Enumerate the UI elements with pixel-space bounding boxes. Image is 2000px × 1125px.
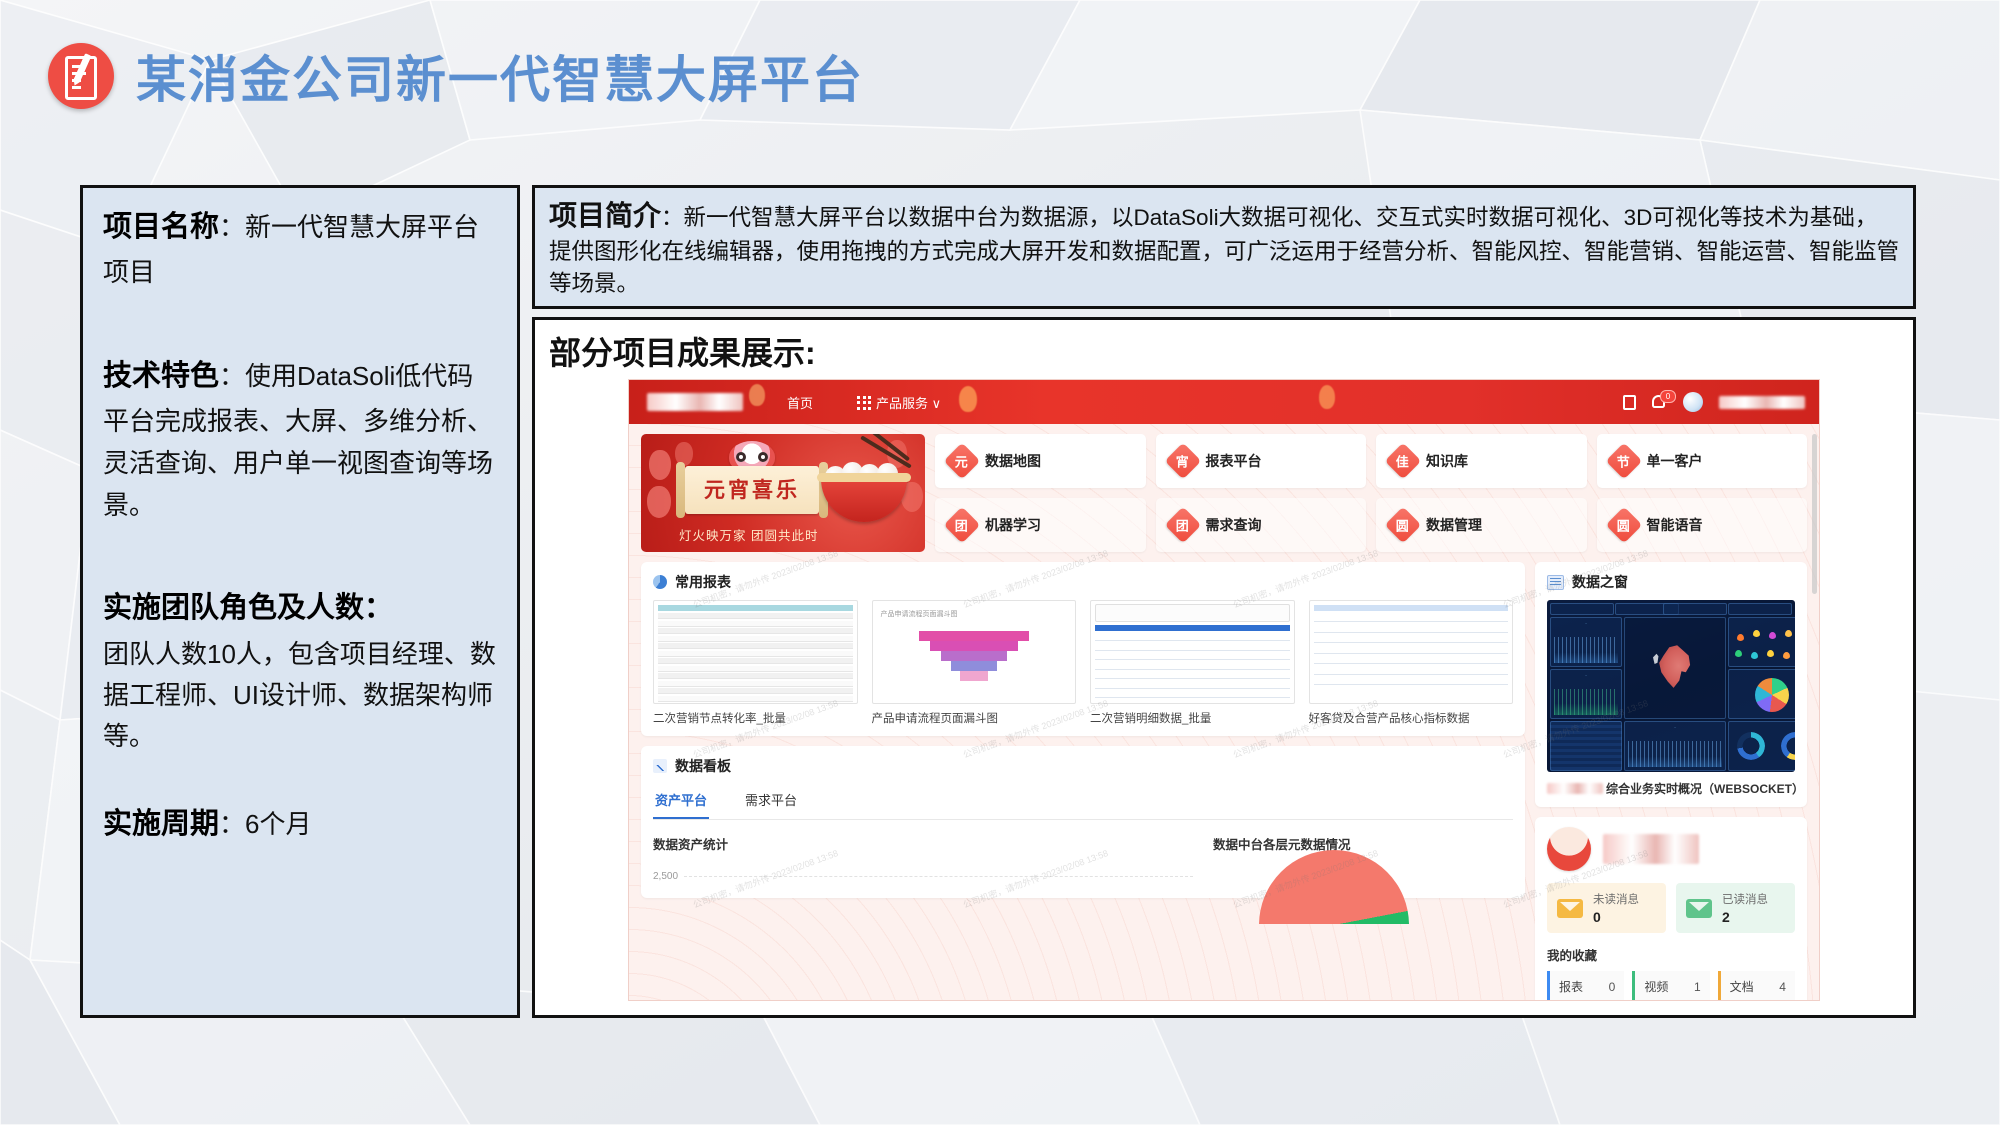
data-window-preview[interactable]: - - - (1547, 600, 1795, 772)
data-window-card: 数据之窗 - - (1535, 562, 1807, 807)
tech-feature-block: 技术特色：使用DataSoli低代码平台完成报表、大屏、多维分析、灵活查询、用户… (103, 353, 497, 526)
report-caption: 好客贷及合营产品核心指标数据 (1309, 710, 1514, 726)
tile-badge-text: 圆 (1396, 515, 1409, 534)
tile-5[interactable]: 团 需求查询 (1156, 498, 1367, 552)
project-name-label: 项目名称 (103, 211, 219, 243)
favorite-label: 报表 (1559, 978, 1583, 995)
report-thumbnails: 二次营销节点转化率_批量 产品申请流程页面漏斗图 (653, 600, 1513, 726)
report-caption: 二次营销明细数据_批量 (1090, 710, 1295, 726)
tile-label: 知识库 (1426, 451, 1468, 471)
banner-title: 元宵喜乐 (685, 466, 819, 514)
project-info-panel: 项目名称：新一代智慧大屏平台项目 技术特色：使用DataSoli低代码平台完成报… (80, 185, 520, 1018)
window-icon (1547, 575, 1564, 590)
report-thumbnail (1309, 600, 1514, 704)
read-count: 2 (1722, 909, 1768, 925)
tile-badge-text: 节 (1617, 451, 1630, 470)
tile-0[interactable]: 元 数据地图 (935, 434, 1146, 488)
funnel-chart (919, 631, 1029, 693)
tile-label: 机器学习 (985, 515, 1041, 535)
tile-label: 报表平台 (1206, 451, 1262, 471)
festival-banner[interactable]: 元宵喜乐 灯火映万家 团圆共此时 (641, 434, 925, 552)
banner-title-scroll: 元宵喜乐 (685, 466, 819, 514)
data-window-caption-blurred (1547, 783, 1603, 794)
right-column: 项目简介：新一代智慧大屏平台以数据中台为数据源，以DataSoli大数据可视化、… (532, 185, 1916, 1018)
project-name-block: 项目名称：新一代智慧大屏平台项目 (103, 204, 497, 293)
unread-count: 0 (1593, 909, 1639, 925)
tile-label: 数据地图 (985, 451, 1041, 471)
chart-icon (653, 759, 667, 773)
funnel-chart-title: 产品申请流程页面漏斗图 (881, 609, 958, 619)
envelope-icon (1557, 899, 1583, 918)
favorite-label: 视频 (1644, 978, 1668, 995)
results-panel: 部分项目成果展示: 首页 产品服务 ∨ (532, 317, 1916, 1018)
tile-badge-text: 团 (1176, 515, 1189, 534)
tile-badge-text: 元 (955, 451, 968, 470)
tile-badge-text: 佳 (1396, 451, 1409, 470)
clock-icon (653, 575, 667, 589)
common-reports-header: 常用报表 (653, 572, 1513, 592)
tile-2[interactable]: 佳 知识库 (1376, 434, 1587, 488)
bell-icon-wrap[interactable]: 0 (1652, 395, 1667, 410)
app-logo-blurred (647, 393, 743, 411)
app-tiles-grid: 元 数据地图 宵 报表平台 佳 知识库 (935, 434, 1807, 552)
tile-badge-text: 团 (955, 515, 968, 534)
nav-item-products-label: 产品服务 (876, 396, 928, 411)
common-reports-card: 常用报表 (641, 562, 1525, 736)
bell-badge: 0 (1660, 390, 1676, 403)
data-window-caption-text: 综合业务实时概况（WEBSOCKET） (1606, 782, 1804, 796)
period-value: ：6个月 (219, 809, 311, 839)
favorite-count: 0 (1609, 980, 1616, 994)
read-label: 已读消息 (1722, 891, 1768, 907)
app-body: 元宵喜乐 灯火映万家 团圆共此时 (629, 424, 1819, 1000)
tile-badge-icon: 团 (1164, 507, 1201, 544)
document-pen-icon (48, 43, 114, 109)
tile-label: 数据管理 (1426, 515, 1482, 535)
nav-item-home[interactable]: 首页 (787, 393, 813, 412)
tile-1[interactable]: 宵 报表平台 (1156, 434, 1367, 488)
tile-3[interactable]: 节 单一客户 (1597, 434, 1808, 488)
report-item-2[interactable]: 二次营销明细数据_批量 (1090, 600, 1295, 726)
common-reports-title: 常用报表 (675, 572, 731, 592)
chart-gridline (684, 876, 1193, 877)
data-window-title: 数据之窗 (1572, 572, 1628, 592)
favorite-documents[interactable]: 文档 4 (1718, 971, 1795, 1000)
data-dashboard-header: 数据看板 (653, 756, 1513, 776)
period-label: 实施周期 (103, 808, 219, 840)
results-title: 部分项目成果展示: (549, 328, 1901, 374)
app-left-column: 常用报表 (641, 562, 1525, 1000)
dashboard-tabs: 资产平台 需求平台 (653, 784, 1513, 820)
tile-4[interactable]: 团 机器学习 (935, 498, 1146, 552)
report-item-0[interactable]: 二次营销节点转化率_批量 (653, 600, 858, 726)
app-header-actions: 0 (1623, 380, 1805, 424)
asset-stats-title: 数据资产统计 (653, 834, 1193, 853)
intro-text: ：新一代智慧大屏平台以数据中台为数据源，以DataSoli大数据可视化、交互式实… (549, 205, 1899, 296)
app-top-row: 元宵喜乐 灯火映万家 团圆共此时 (641, 434, 1807, 552)
tile-label: 单一客户 (1647, 451, 1703, 471)
data-window-caption: 综合业务实时概况（WEBSOCKET） (1547, 780, 1795, 797)
avatar[interactable] (1547, 827, 1591, 871)
avatar[interactable] (1683, 392, 1703, 412)
tab-asset-platform[interactable]: 资产平台 (653, 784, 709, 819)
team-value: 团队人数10人，包含项目经理、数据工程师、UI设计师、数据架构师等。 (103, 639, 496, 751)
banner-subtitle: 灯火映万家 团圆共此时 (679, 525, 818, 544)
tile-label: 需求查询 (1206, 515, 1262, 535)
team-block: 实施团队角色及人数： 团队人数10人，包含项目经理、数据工程师、UI设计师、数据… (103, 586, 497, 757)
tile-badge-text: 圆 (1617, 515, 1630, 534)
app-scrollbar[interactable] (1812, 434, 1817, 594)
tile-7[interactable]: 圆 智能语音 (1597, 498, 1808, 552)
message-summary: 未读消息 0 已读消息 2 (1547, 883, 1795, 933)
favorite-reports[interactable]: 报表 0 (1547, 971, 1624, 1000)
tile-badge-icon: 圆 (1605, 507, 1642, 544)
data-window-header: 数据之窗 (1547, 572, 1795, 592)
favorite-count: 1 (1694, 980, 1701, 994)
data-dashboard-title: 数据看板 (675, 756, 731, 776)
report-caption: 产品申请流程页面漏斗图 (872, 710, 1077, 726)
profile-row (1547, 827, 1795, 871)
favorites-label: 我的收藏 (1547, 945, 1795, 964)
period-block: 实施周期：6个月 (103, 801, 497, 848)
profile-name-blurred (1603, 834, 1699, 864)
report-caption: 二次营销节点转化率_批量 (653, 710, 858, 726)
tile-badge-icon: 元 (944, 443, 981, 480)
nav-item-products[interactable]: 产品服务 ∨ (857, 393, 941, 412)
tile-badge-icon: 宵 (1164, 443, 1201, 480)
bowl-icon (821, 476, 907, 522)
favorite-videos[interactable]: 视频 1 (1632, 971, 1709, 1000)
page-header: 某消金公司新一代智慧大屏平台 (48, 28, 864, 124)
unread-label: 未读消息 (1593, 891, 1639, 907)
report-item-1[interactable]: 产品申请流程页面漏斗图 产品申请流程页面漏斗图 (872, 600, 1077, 726)
read-messages-box[interactable]: 已读消息 2 (1676, 883, 1795, 933)
content-frame: 项目名称：新一代智慧大屏平台项目 技术特色：使用DataSoli低代码平台完成报… (80, 185, 1916, 1018)
tile-badge-icon: 节 (1605, 443, 1642, 480)
book-icon[interactable] (1623, 395, 1636, 410)
unread-messages-box[interactable]: 未读消息 0 (1547, 883, 1666, 933)
asset-chart-axis-value: 2,500 (653, 871, 678, 882)
profile-card: 未读消息 0 已读消息 2 (1535, 817, 1807, 1000)
grid-icon (857, 396, 871, 410)
data-dashboard-card: 数据看板 资产平台 需求平台 数据资产统计 (641, 746, 1525, 898)
tile-badge-text: 宵 (1176, 451, 1189, 470)
username-blurred (1719, 396, 1805, 409)
page-title: 某消金公司新一代智慧大屏平台 (136, 40, 864, 112)
chevron-down-icon: ∨ (932, 396, 942, 411)
embedded-app-screenshot: 首页 产品服务 ∨ 0 (629, 380, 1819, 1000)
tile-label: 智能语音 (1647, 515, 1703, 535)
favorite-count: 4 (1779, 980, 1786, 994)
favorites-row: 报表 0 视频 1 文档 4 (1547, 971, 1795, 1000)
tile-6[interactable]: 圆 数据管理 (1376, 498, 1587, 552)
app-main-row: 常用报表 (641, 562, 1807, 1000)
app-right-column: 数据之窗 - - (1535, 562, 1807, 1000)
tech-feature-label: 技术特色 (103, 360, 219, 392)
tile-badge-icon: 佳 (1385, 443, 1422, 480)
report-thumbnail: 产品申请流程页面漏斗图 (872, 600, 1077, 704)
app-header: 首页 产品服务 ∨ 0 (629, 380, 1819, 424)
tile-badge-icon: 圆 (1385, 507, 1422, 544)
favorite-label: 文档 (1730, 978, 1754, 995)
team-colon: ： (364, 592, 393, 624)
tab-demand-platform[interactable]: 需求平台 (743, 784, 799, 819)
tile-badge-icon: 团 (944, 507, 981, 544)
team-label: 实施团队角色及人数 (103, 592, 364, 624)
metadata-donut-chart (1259, 850, 1409, 924)
report-item-3[interactable]: 好客贷及合营产品核心指标数据 (1309, 600, 1514, 726)
report-thumbnail (653, 600, 858, 704)
project-intro-panel: 项目简介：新一代智慧大屏平台以数据中台为数据源，以DataSoli大数据可视化、… (532, 185, 1916, 309)
envelope-open-icon (1686, 899, 1712, 918)
intro-label: 项目简介 (549, 200, 661, 231)
report-thumbnail (1090, 600, 1295, 704)
